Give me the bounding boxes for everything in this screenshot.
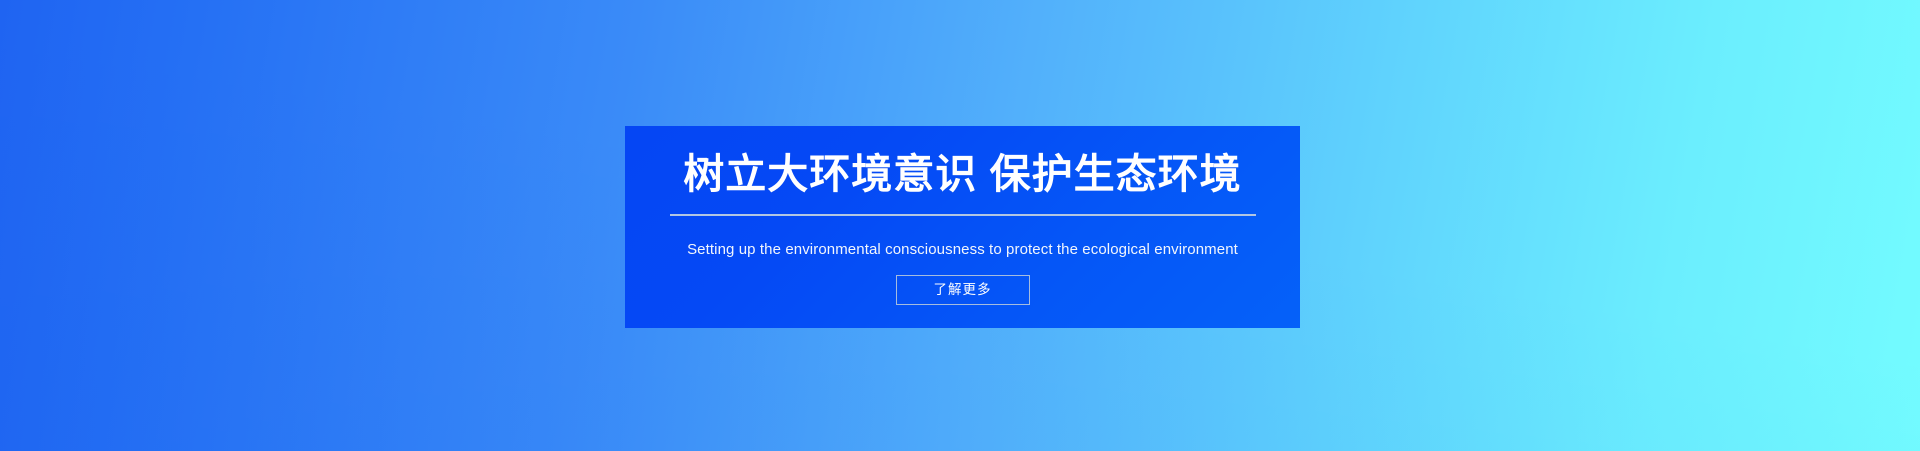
learn-more-button[interactable]: 了解更多 — [896, 275, 1030, 305]
hero-banner: 树立大环境意识 保护生态环境 Setting up the environmen… — [0, 0, 1920, 451]
page-title: 树立大环境意识 保护生态环境 — [683, 154, 1241, 195]
page-subtitle: Setting up the environmental consciousne… — [687, 241, 1238, 259]
title-divider — [670, 214, 1256, 216]
hero-content-card: 树立大环境意识 保护生态环境 Setting up the environmen… — [625, 126, 1300, 328]
